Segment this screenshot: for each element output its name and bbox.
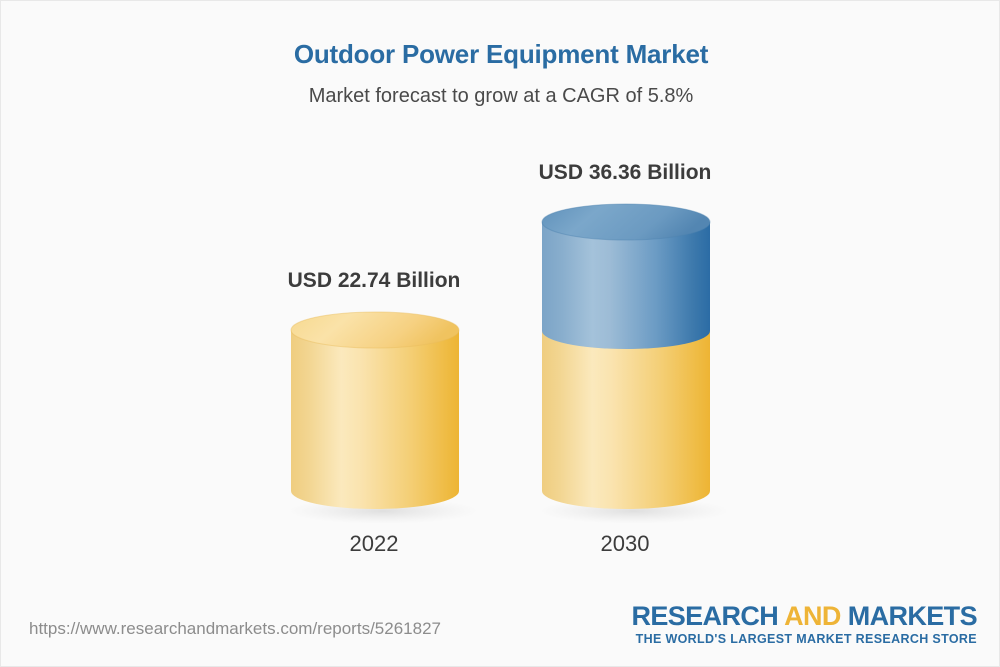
value-label-2022: USD 22.74 Billion xyxy=(224,269,524,293)
cylinder-bar-2030 xyxy=(524,189,729,529)
logo-word-research: RESEARCH xyxy=(631,601,778,631)
logo-word-and: AND xyxy=(784,601,841,631)
chart-canvas: Outdoor Power Equipment Market Market fo… xyxy=(0,0,1000,667)
logo-tagline: THE WORLD'S LARGEST MARKET RESEARCH STOR… xyxy=(631,631,977,647)
research-and-markets-logo: RESEARCH AND MARKETS THE WORLD'S LARGEST… xyxy=(631,601,977,647)
logo-word-markets: MARKETS xyxy=(848,601,977,631)
cylinder-bar-2022 xyxy=(273,297,478,529)
value-label-2030: USD 36.36 Billion xyxy=(475,161,775,185)
logo-wordmark: RESEARCH AND MARKETS xyxy=(631,601,977,631)
category-label-2030: 2030 xyxy=(475,531,775,557)
source-url[interactable]: https://www.researchandmarkets.com/repor… xyxy=(29,619,441,639)
chart-plot-area: USD 22.74 Billion 2022 USD 36.36 Billion xyxy=(1,1,1000,667)
